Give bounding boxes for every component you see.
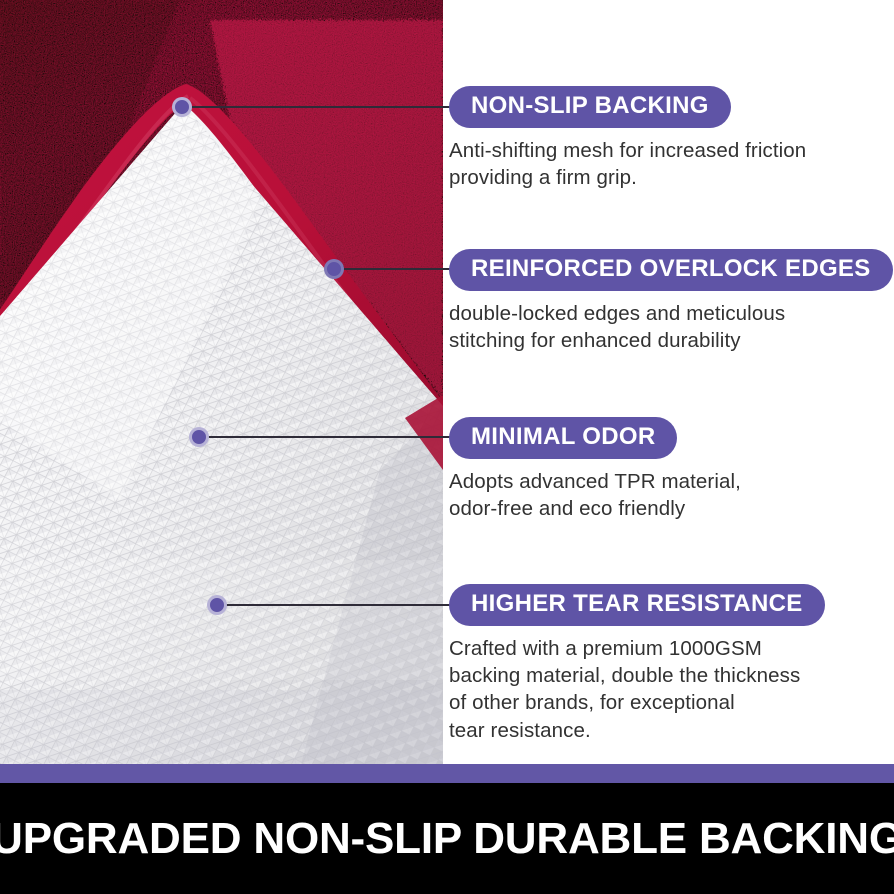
bullet-dot-icon-2 xyxy=(324,259,344,279)
callout-non-slip-backing: NON-SLIP BACKING Anti-shifting mesh for … xyxy=(449,86,806,191)
callout-description-3: Adopts advanced TPR material, odor-free … xyxy=(449,468,741,523)
callout-description-4: Crafted with a premium 1000GSM backing m… xyxy=(449,635,825,744)
bullet-dot-icon-4 xyxy=(207,595,227,615)
callout-title-3: MINIMAL ODOR xyxy=(449,417,677,459)
bottom-banner: UPGRADED NON-SLIP DURABLE BACKING xyxy=(0,783,894,894)
callout-description-2: double-locked edges and meticulous stitc… xyxy=(449,300,893,355)
banner-headline: UPGRADED NON-SLIP DURABLE BACKING xyxy=(0,814,894,864)
bullet-dot-icon-3 xyxy=(189,427,209,447)
callout-minimal-odor: MINIMAL ODOR Adopts advanced TPR materia… xyxy=(449,417,741,522)
connector-line-4 xyxy=(217,604,450,606)
callout-higher-tear-resistance: HIGHER TEAR RESISTANCE Crafted with a pr… xyxy=(449,584,825,744)
product-photo xyxy=(0,0,443,768)
infographic-page: NON-SLIP BACKING Anti-shifting mesh for … xyxy=(0,0,894,894)
callout-title-2: REINFORCED OVERLOCK EDGES xyxy=(449,249,893,291)
connector-line-3 xyxy=(199,436,450,438)
rug-illustration xyxy=(0,0,443,768)
callout-title-4: HIGHER TEAR RESISTANCE xyxy=(449,584,825,626)
connector-line-2 xyxy=(334,268,450,270)
callout-reinforced-overlock-edges: REINFORCED OVERLOCK EDGES double-locked … xyxy=(449,249,893,354)
callout-title-1: NON-SLIP BACKING xyxy=(449,86,731,128)
purple-divider-band xyxy=(0,764,894,783)
callout-description-1: Anti-shifting mesh for increased frictio… xyxy=(449,137,806,192)
connector-line-1 xyxy=(182,106,450,108)
bullet-dot-icon-1 xyxy=(172,97,192,117)
